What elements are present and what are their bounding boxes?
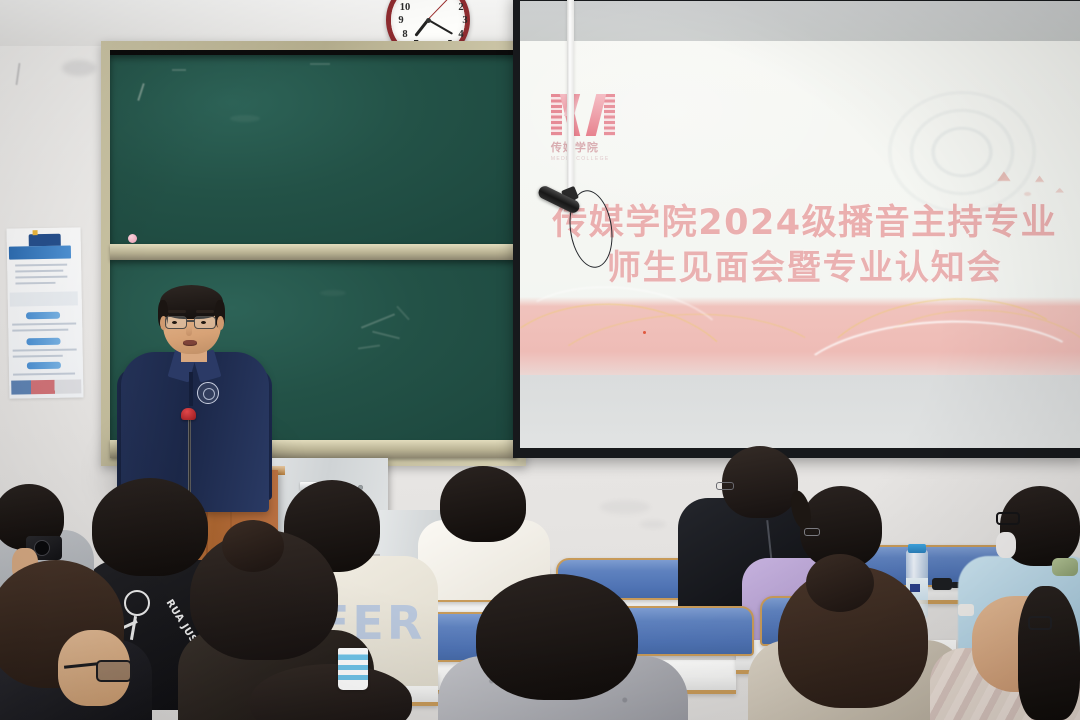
mic-boom-pole (567, 0, 574, 192)
table-mic-stand (188, 416, 191, 496)
logo-name-cn: 传媒学院 (551, 139, 615, 155)
slide-top-band (520, 1, 1080, 41)
audience-head (440, 466, 526, 542)
audience-eyeglasses (804, 528, 820, 536)
clock-numeral: 11 (410, 0, 422, 1)
bottle-label-mark (910, 584, 920, 592)
poster-header-band (9, 246, 71, 260)
clock-numeral: 3 (459, 15, 471, 26)
striped-paper-cup[interactable] (338, 648, 368, 690)
logo-name-en: MEDIA COLLEGE (551, 156, 615, 162)
clock-center-pin (426, 18, 431, 23)
speaker-mouth (183, 340, 197, 346)
bottle-cap (908, 544, 926, 553)
slide-grey-band (520, 375, 1080, 448)
car-keys[interactable] (932, 578, 952, 590)
clock-numeral: 2 (455, 2, 467, 13)
wall-smudge (62, 60, 96, 76)
glasses-bridge (186, 320, 195, 322)
speaker-eyebrow (196, 310, 214, 313)
clock-numeral: 8 (399, 29, 411, 40)
chalk-rail-middle (110, 244, 517, 260)
clock-numeral: 10 (399, 2, 411, 13)
clock-numeral: 4 (455, 29, 467, 40)
speaker-chest-emblem (197, 382, 219, 404)
wall-smudge (640, 520, 666, 529)
clock-numeral: 9 (395, 15, 407, 26)
audience-head (722, 446, 798, 518)
poster-footer-band (11, 379, 81, 394)
poster-illustration (29, 234, 61, 247)
audience-head (476, 574, 638, 700)
slide-mountain-decor (1055, 188, 1064, 193)
slide-headline: 传媒学院2024级播音主持专业 师生见面会暨专业认知会 (537, 200, 1073, 292)
speaker-eye (172, 321, 177, 324)
jacket-graphic-doodle (124, 590, 150, 616)
media-college-logo: 传媒学院 MEDIA COLLEGE (551, 94, 615, 162)
speaker-nose (186, 326, 192, 336)
audience-head (92, 478, 208, 576)
lecture-hall-photo: 12 1 2 3 4 5 6 7 8 9 10 11 (0, 0, 1080, 720)
audience-eyeglasses (716, 482, 734, 490)
table-microphone (181, 408, 196, 420)
face-mask (996, 532, 1016, 558)
speaker-eyebrow (168, 310, 186, 313)
safety-notice-poster (7, 227, 84, 398)
slide-bird-decor (1024, 192, 1031, 196)
speaker-eye (201, 321, 206, 324)
green-hair-clip[interactable] (1052, 558, 1078, 576)
hair-bun (806, 554, 874, 612)
slide-headline-line1: 传媒学院2024级播音主持专业 (537, 200, 1073, 247)
hair-bun (222, 520, 284, 572)
cup-on-desk[interactable] (958, 604, 974, 616)
speaker-ear (217, 316, 224, 330)
wall-smudge (600, 500, 650, 514)
slide-headline-line2: 师生见面会暨专业认知会 (537, 246, 1073, 291)
slide-red-band (520, 297, 1080, 374)
blackboard-panel-top (110, 55, 517, 245)
pink-chalk-piece[interactable] (128, 234, 137, 243)
audience-eyeglasses (96, 660, 132, 682)
speaker-hair (160, 285, 223, 319)
speaker-placket (189, 372, 193, 406)
audience-eyeglasses (996, 512, 1020, 525)
audience-eyeglasses (1028, 616, 1052, 630)
logo-m-mark (551, 94, 615, 136)
audience-head (1018, 586, 1080, 720)
